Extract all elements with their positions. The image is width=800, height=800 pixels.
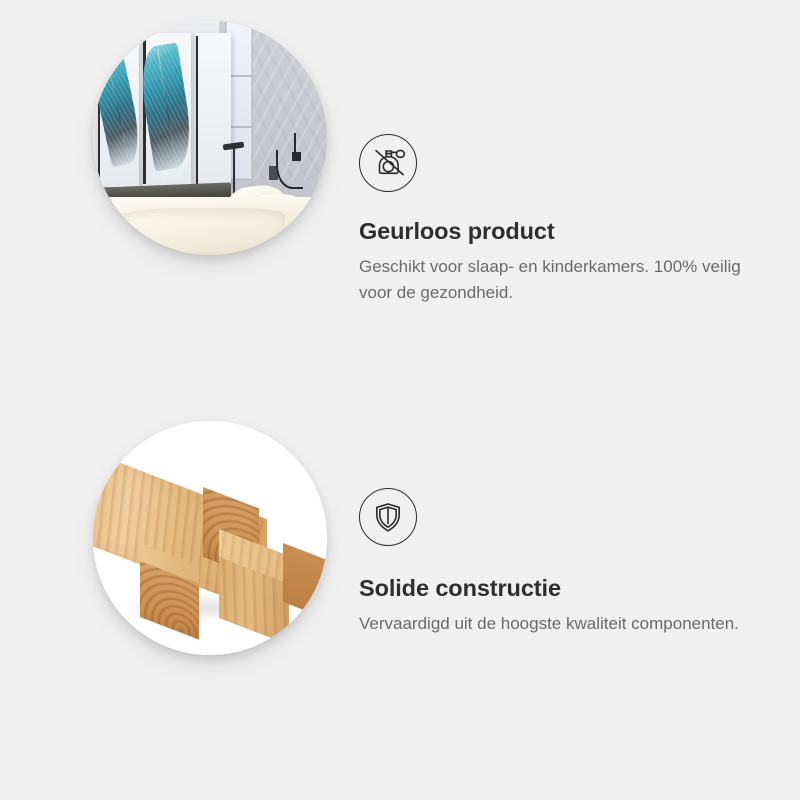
feature-text-column: Geurloos product Geschikt voor slaap- en… [359, 134, 759, 306]
circular-photo-frame [93, 421, 327, 655]
art-panel-left [98, 33, 139, 187]
art-panel-center [143, 33, 191, 187]
feature-title: Solide constructie [359, 574, 759, 602]
feature-list: Geurloos product Geschikt voor slaap- en… [0, 0, 800, 800]
floor-lamp-pole [233, 145, 235, 196]
feature-item-geurloos-product: Geurloos product Geschikt voor slaap- en… [0, 0, 800, 400]
shield-icon [359, 488, 417, 546]
feature-description: Geschikt voor slaap- en kinderkamers. 10… [359, 254, 749, 306]
wood-block-right-end-grain [283, 543, 327, 619]
wooden-blocks-scene [93, 421, 327, 655]
wall-lamp-shade [292, 152, 301, 161]
panel-edge [196, 36, 199, 184]
art-panel-right [196, 33, 231, 187]
bed-duvet [102, 208, 285, 255]
feature-description: Vervaardigd uit de hoogste kwaliteit com… [359, 611, 749, 637]
feature-image-wooden-blocks-photo [93, 421, 327, 655]
circular-photo-frame [93, 21, 327, 255]
bedroom-scene [93, 21, 327, 255]
feature-image-bedroom-with-feather-wall-art-photo [93, 21, 327, 255]
feature-item-solide-constructie: Solide constructie Vervaardigd uit de ho… [0, 400, 800, 800]
feature-text-column: Solide constructie Vervaardigd uit de ho… [359, 488, 759, 637]
no-fragrance-icon [359, 134, 417, 192]
feature-title: Geurloos product [359, 217, 759, 245]
